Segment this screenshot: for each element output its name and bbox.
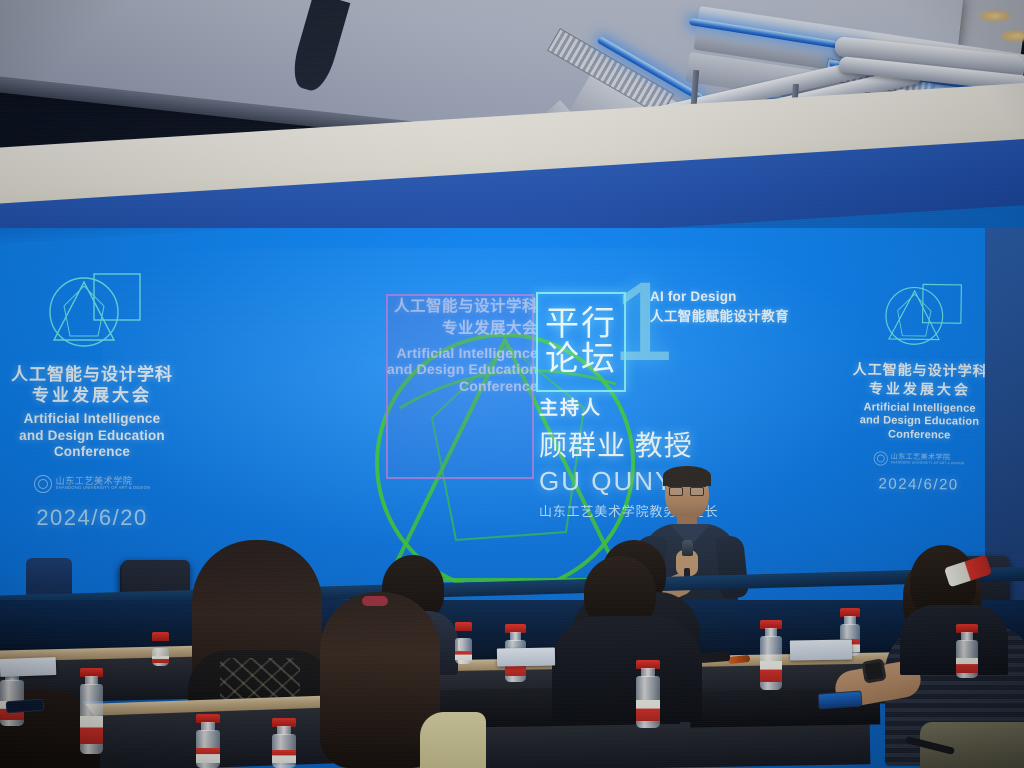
- water-bottle[interactable]: [80, 668, 103, 754]
- glasses-icon: [669, 487, 683, 496]
- hair-tie: [362, 596, 388, 606]
- bottle-label: [196, 748, 220, 762]
- water-bottle[interactable]: [956, 624, 978, 678]
- audience-person-drinking: [900, 545, 1010, 665]
- bottle-label: [956, 658, 978, 673]
- audience-person-ponytail: [300, 592, 480, 768]
- name-card: [0, 657, 56, 677]
- bottle-body: [80, 684, 103, 754]
- bottle-body: [272, 734, 296, 768]
- bottle-label: [80, 716, 103, 744]
- bottle-body: [196, 730, 220, 768]
- glasses-icon: [690, 487, 704, 496]
- water-bottle[interactable]: [455, 622, 472, 664]
- bottle-body: [636, 676, 660, 728]
- bottle-body: [760, 636, 782, 690]
- photo-scene: 人工智能与设计学科 专业发展大会 Artificial Intelligence…: [0, 0, 1024, 768]
- bottle-cap: [152, 632, 169, 641]
- water-bottle[interactable]: [272, 718, 296, 768]
- water-bottle[interactable]: [760, 620, 782, 690]
- water-bottle[interactable]: [636, 660, 660, 728]
- smartphone[interactable]: [817, 690, 862, 709]
- speaker-arm-right: [715, 535, 749, 600]
- wristwatch-icon: [861, 658, 886, 683]
- bottle-body: [956, 640, 978, 678]
- bottle-cap: [455, 622, 472, 631]
- audience-torso: [552, 616, 702, 722]
- speaker-hair: [663, 466, 711, 486]
- eyeglass-case: [700, 651, 731, 663]
- bottle-body: [152, 648, 169, 666]
- bottle-label: [455, 651, 472, 661]
- foreground: [0, 0, 1024, 768]
- audience-shoulder: [420, 712, 486, 768]
- name-card: [497, 647, 555, 666]
- bottle-label: [272, 750, 296, 763]
- name-card: [790, 639, 852, 660]
- water-bottle[interactable]: [152, 632, 169, 666]
- bottle-label: [152, 656, 169, 663]
- water-bottle[interactable]: [196, 714, 220, 768]
- bottle-body: [455, 638, 472, 664]
- bottle-label: [636, 700, 660, 721]
- audience-person-center: [560, 556, 700, 706]
- audience-torso: [900, 605, 1008, 675]
- bottle-label: [760, 661, 782, 683]
